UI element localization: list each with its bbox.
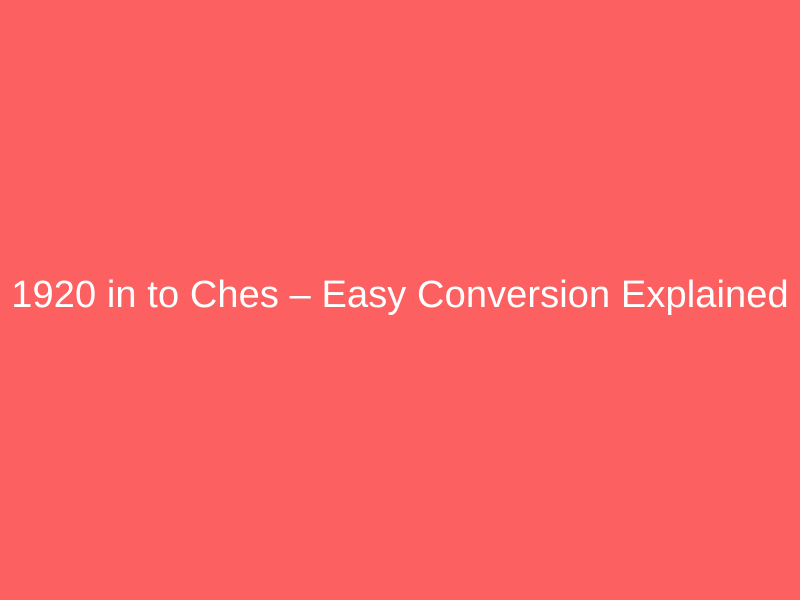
social-share-card: 1920 in to Ches – Easy Conversion Explai… bbox=[0, 0, 800, 600]
page-title: 1920 in to Ches – Easy Conversion Explai… bbox=[11, 271, 788, 320]
card-content-wrapper: 1920 in to Ches – Easy Conversion Explai… bbox=[0, 271, 800, 320]
